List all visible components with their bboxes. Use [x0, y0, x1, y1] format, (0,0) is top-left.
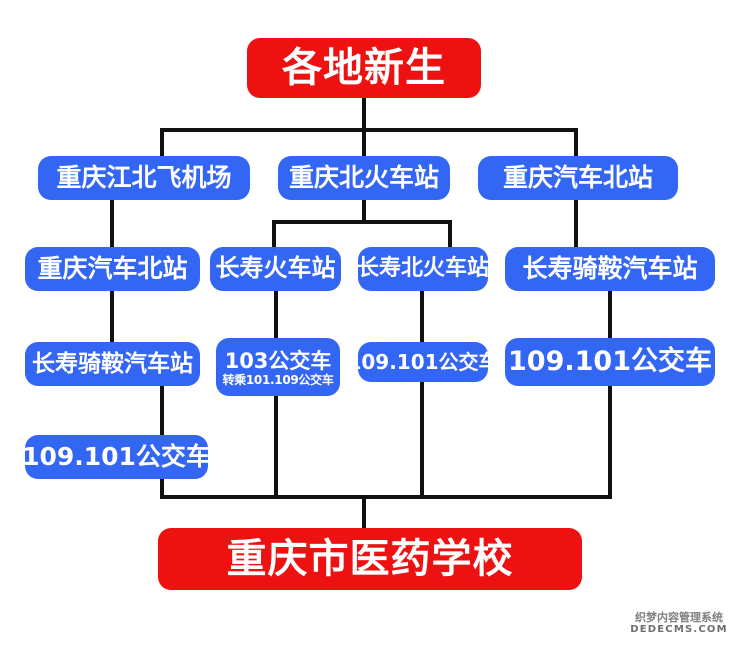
connector-r3c2-to-bottom: [274, 394, 278, 499]
node-bus-109-101-a: 109.101公交车: [25, 435, 208, 479]
node-chongqing-north-railway-station: 重庆北火车站: [278, 156, 450, 200]
watermark: 织梦内容管理系统 DEDECMS.COM: [626, 612, 732, 636]
watermark-cn-text: 织梦内容管理系统: [626, 612, 732, 624]
node-changshou-qian-coach-station-2: 长寿骑鞍汽车站: [25, 342, 200, 386]
connector-split-to-r2c2: [272, 220, 276, 250]
connector-r3c3-to-bottom: [420, 380, 424, 499]
connector-r2c4-to-r3c4: [608, 289, 612, 341]
watermark-en-text: DEDECMS.COM: [626, 624, 732, 636]
connector-title-stem: [362, 98, 366, 130]
node-origin-title: 各地新生: [247, 38, 481, 98]
connector-top-bus: [160, 128, 578, 132]
connector-r3c4-to-bottom: [608, 384, 612, 499]
connector-top-to-r1c3: [574, 128, 578, 158]
connector-bottom-to-school: [362, 495, 366, 531]
connector-r1c2-split-bus: [272, 220, 452, 224]
node-chongqing-jiangbei-airport: 重庆江北飞机场: [38, 156, 250, 200]
node-bus-103-label: 103公交车: [225, 350, 332, 372]
connector-split-to-r2c3: [448, 220, 452, 250]
node-changshou-north-railway-station: 长寿北火车站: [358, 247, 488, 291]
node-changshou-railway-station: 长寿火车站: [210, 247, 341, 291]
connector-r2c2-to-r3c2: [274, 289, 278, 341]
flowchart-canvas: 各地新生 重庆江北飞机场 重庆北火车站 重庆汽车北站 重庆汽车北站 长寿火车站 …: [0, 0, 739, 652]
connector-r1c2-stem: [362, 198, 366, 222]
connector-r2c3-to-r3c3: [420, 289, 424, 345]
connector-r2c1-to-r3c1: [110, 289, 114, 345]
node-bus-109-101-c: 109.101公交车: [505, 338, 715, 386]
connector-bottom-bus: [160, 495, 612, 499]
connector-r1c1-to-r2c1: [110, 198, 114, 250]
node-bus-103-transfer-note: 转乘101.109公交车: [222, 374, 333, 387]
node-bus-103: 103公交车 转乘101.109公交车: [216, 338, 340, 396]
connector-top-to-r1c2: [362, 128, 366, 158]
node-destination-school: 重庆市医药学校: [158, 528, 582, 590]
connector-top-to-r1c1: [160, 128, 164, 158]
node-chongqing-north-coach-station: 重庆汽车北站: [478, 156, 678, 200]
node-bus-109-101-b: 109.101公交车: [358, 342, 488, 382]
node-changshou-qian-coach-station: 长寿骑鞍汽车站: [505, 247, 715, 291]
node-chongqing-north-coach-station-2: 重庆汽车北站: [25, 247, 200, 291]
connector-r1c3-to-r2c4: [574, 198, 578, 250]
